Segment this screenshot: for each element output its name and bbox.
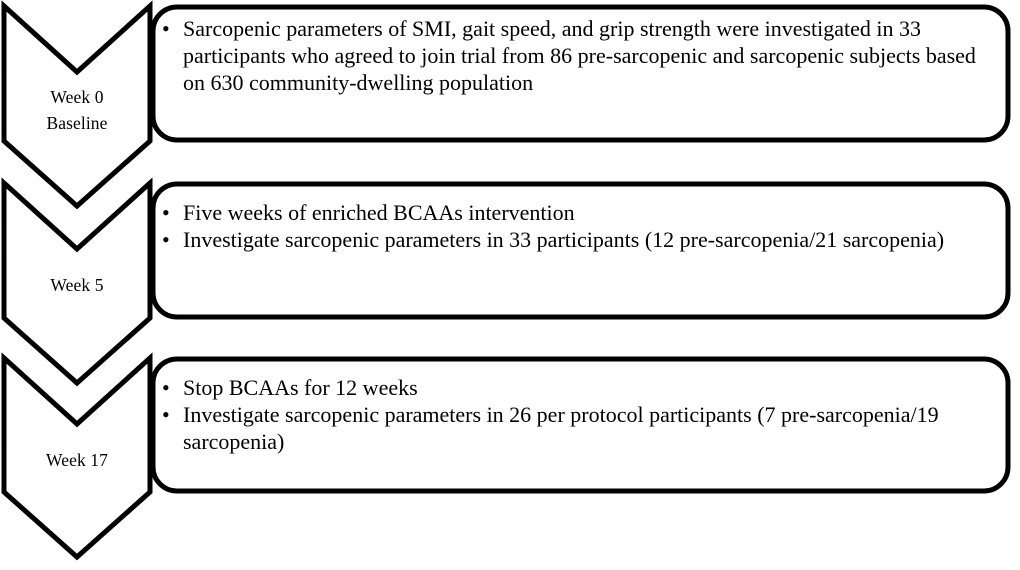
stage-label-week-0-baseline: Week 0 Baseline <box>4 84 150 136</box>
bullet-dot-icon: • <box>162 16 170 43</box>
list-item-text: Sarcopenic parameters of SMI, gait speed… <box>183 16 976 95</box>
bullet-dot-icon: • <box>162 375 170 402</box>
stage-content-week-17: • Stop BCAAs for 12 weeks • Investigate … <box>157 375 1002 455</box>
bullet-list: • Stop BCAAs for 12 weeks • Investigate … <box>157 375 1002 455</box>
bullet-dot-icon: • <box>162 402 170 429</box>
bullet-list: • Sarcopenic parameters of SMI, gait spe… <box>157 16 1002 96</box>
list-item: • Stop BCAAs for 12 weeks <box>157 375 1002 402</box>
stage-content-week-5: • Five weeks of enriched BCAAs intervent… <box>157 200 1002 254</box>
bullet-dot-icon: • <box>162 227 170 254</box>
list-item-text: Investigate sarcopenic parameters in 33 … <box>183 227 944 252</box>
bullet-dot-icon: • <box>162 200 170 227</box>
list-item-text: Stop BCAAs for 12 weeks <box>183 375 418 400</box>
bullet-list: • Five weeks of enriched BCAAs intervent… <box>157 200 1002 254</box>
stage-content-week-0-baseline: • Sarcopenic parameters of SMI, gait spe… <box>157 16 1002 96</box>
list-item-text: Investigate sarcopenic parameters in 26 … <box>183 402 939 454</box>
list-item: • Sarcopenic parameters of SMI, gait spe… <box>157 16 1002 96</box>
list-item-text: Five weeks of enriched BCAAs interventio… <box>183 200 575 225</box>
flowchart-canvas: Week 0 Baseline • Sarcopenic parameters … <box>0 0 1020 570</box>
stage-label-week-17: Week 17 <box>4 447 150 473</box>
list-item: • Investigate sarcopenic parameters in 2… <box>157 402 1002 456</box>
stage-label-week-5: Week 5 <box>4 272 150 298</box>
list-item: • Five weeks of enriched BCAAs intervent… <box>157 200 1002 227</box>
list-item: • Investigate sarcopenic parameters in 3… <box>157 227 1002 254</box>
